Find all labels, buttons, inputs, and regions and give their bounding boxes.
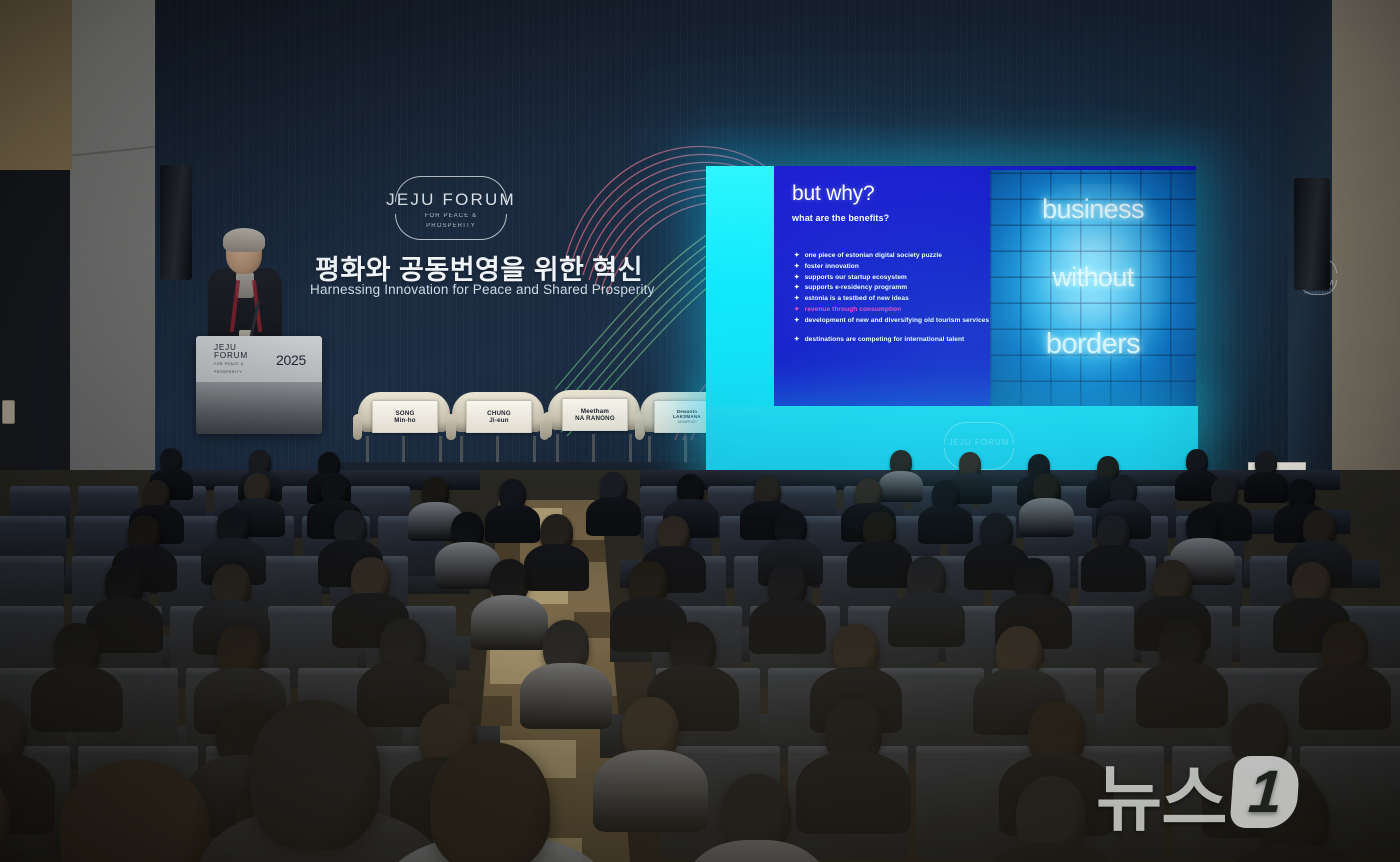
chair-armrest — [447, 414, 456, 440]
bullet-text: development of new and diversifying old … — [805, 316, 990, 326]
namecard-line: Min-ho — [394, 417, 415, 424]
bullet-text: revenue through consumption — [805, 305, 902, 315]
panel-chair: MeethamNA RANONG — [548, 390, 640, 436]
bullet-text: foster innovation — [805, 262, 859, 272]
seat-top-edge — [880, 668, 984, 677]
audience-shoulders — [593, 750, 707, 831]
chair-leg — [556, 434, 559, 462]
bullet-text: destinations are competing for internati… — [805, 335, 965, 345]
screen-cyan-band — [706, 166, 774, 412]
slide-bullet: ✦supports e-residency programm — [794, 283, 990, 293]
audience-shoulders — [749, 599, 826, 654]
podium: JEJU FORUM FOR PEACE & PROSPERITY 2025 — [196, 336, 322, 434]
bullet-mark-icon: ✦ — [794, 251, 800, 261]
audience-shoulders — [1081, 545, 1146, 591]
pa-speaker-right — [1294, 178, 1330, 290]
bullet-text: supports our startup ecosystem — [805, 273, 907, 283]
slide-bullet-list: ✦one piece of estonian digital society p… — [794, 251, 990, 346]
seat-top-edge — [78, 746, 198, 755]
namecard-line: SONG — [395, 410, 414, 417]
chair-armrest — [543, 412, 552, 438]
backdrop-jeju-forum-logo: JEJU FORUM FOR PEACE & PROSPERITY — [377, 172, 525, 244]
seat-top-edge — [916, 746, 1036, 755]
bullet-text: supports e-residency programm — [805, 283, 908, 293]
chair-leg — [592, 434, 595, 462]
neon-word-2: without — [990, 262, 1196, 293]
neon-word-3: borders — [990, 328, 1196, 361]
audience-shoulders — [1136, 662, 1228, 728]
slide-title: but why? — [792, 182, 874, 206]
podium-front-shadow — [196, 382, 322, 434]
audience-shoulders — [1299, 664, 1391, 730]
bullet-mark-icon: ✦ — [794, 335, 800, 345]
namecard-line: Meetham — [581, 408, 609, 415]
bullet-mark-icon: ✦ — [794, 273, 800, 283]
seat-top-edge — [0, 556, 64, 565]
seat-top-edge — [0, 606, 64, 615]
audience-shoulders — [1019, 498, 1074, 537]
slide-text-column: but why? what are the benefits? ✦one pie… — [792, 166, 990, 412]
audience-shoulders — [485, 504, 540, 543]
wall-outlet — [2, 400, 15, 424]
chair-legs — [460, 436, 536, 464]
namecard-line: JANAPRIATI — [677, 420, 696, 425]
podium-plate-subtitle: FOR PEACE & PROSPERITY — [214, 360, 272, 376]
slide-bullet: ✦estonia is a testbed of new ideas — [794, 294, 990, 304]
slide-neon-photo: business without borders — [990, 170, 1196, 408]
chair-armrest — [635, 414, 644, 440]
seat-top-edge — [10, 486, 70, 495]
logo-title: JEJU FORUM — [938, 438, 1020, 447]
presentation-slide: but why? what are the benefits? ✦one pie… — [774, 166, 1196, 412]
bullet-mark-icon: ✦ — [794, 283, 800, 293]
logo-title: JEJU FORUM — [377, 190, 525, 210]
logo-subtitle-line2: PROSPERITY — [377, 222, 525, 230]
panel-chair: SONGMin-ho — [358, 392, 450, 438]
audience-shoulders — [847, 541, 912, 587]
chair-leg — [402, 436, 405, 464]
audience-shoulders — [888, 592, 965, 647]
seat-top-edge — [776, 486, 836, 495]
slide-bullet: ✦development of new and diversifying old… — [794, 316, 990, 326]
logo-subtitle-line1: FOR PEACE & — [377, 212, 525, 220]
chair-armrest — [353, 414, 362, 440]
chair-legs — [556, 434, 632, 462]
bullet-mark-icon: ✦ — [794, 262, 800, 272]
chair-leg — [533, 436, 536, 464]
namecard-line: CHUNG — [487, 410, 511, 417]
conference-photo-scene: JEJU FORUM FOR PEACE & PROSPERITY 평화와 공동… — [0, 0, 1400, 862]
audience-shoulders — [520, 663, 612, 729]
pa-speaker-left — [160, 165, 192, 280]
bullet-mark-icon: ✦ — [794, 305, 800, 315]
panel-namecard: MeethamNA RANONG — [562, 398, 628, 431]
seat-top-edge — [1216, 668, 1320, 677]
audience-shoulders — [31, 666, 123, 732]
panel-chair: CHUNGJi-eun — [452, 392, 544, 438]
chair-legs — [366, 436, 442, 464]
audience-shoulders — [918, 505, 973, 544]
podium-plate-year: 2025 — [276, 352, 306, 368]
seat-top-edge — [78, 486, 138, 495]
bullet-text: estonia is a testbed of new ideas — [805, 294, 909, 304]
namecard-line: Ji-eun — [489, 417, 508, 424]
podium-nameplate: JEJU FORUM FOR PEACE & PROSPERITY 2025 — [214, 349, 306, 371]
chair-leg — [648, 436, 651, 464]
audience-shoulders — [1244, 472, 1288, 503]
slide-bullet: ✦destinations are competing for internat… — [794, 335, 990, 345]
slide-bullet: ✦one piece of estonian digital society p… — [794, 251, 990, 261]
neon-word-1: business — [990, 194, 1196, 225]
slide-bullet: ✦supports our startup ecosystem — [794, 273, 990, 283]
foreground-audience-head — [250, 700, 380, 850]
panel-namecard: CHUNGJi-eun — [466, 400, 532, 433]
slide-bullet: ✦foster innovation — [794, 262, 990, 272]
foreground-audience-head — [430, 742, 550, 862]
audience-shoulders — [471, 595, 548, 650]
slide-bullet: ✦revenue through consumption — [794, 305, 990, 315]
audience-shoulders — [524, 544, 589, 590]
namecard-line: NA RANONG — [575, 415, 615, 422]
projection-screen: but why? what are the benefits? ✦one pie… — [706, 166, 1196, 412]
audience-shoulders — [586, 497, 641, 536]
seat-top-edge — [1300, 746, 1400, 755]
chair-leg — [496, 436, 499, 464]
chair-leg — [629, 434, 632, 462]
bullet-mark-icon: ✦ — [794, 294, 800, 304]
podium-plate-title: JEJU FORUM — [214, 344, 272, 360]
bullet-mark-icon: ✦ — [794, 316, 800, 326]
slide-subtitle: what are the benefits? — [792, 213, 889, 223]
seat-top-edge — [0, 516, 66, 525]
chair-leg — [460, 436, 463, 464]
presenter-hair — [223, 228, 265, 252]
panel-namecard: SONGMin-ho — [372, 400, 438, 433]
bullet-text: one piece of estonian digital society pu… — [805, 251, 942, 261]
chair-leg — [684, 436, 687, 464]
audience-shoulders — [879, 471, 923, 502]
chair-leg — [439, 436, 442, 464]
chair-leg — [366, 436, 369, 464]
seat-top-edge — [350, 486, 410, 495]
audience-shoulders — [796, 752, 910, 833]
